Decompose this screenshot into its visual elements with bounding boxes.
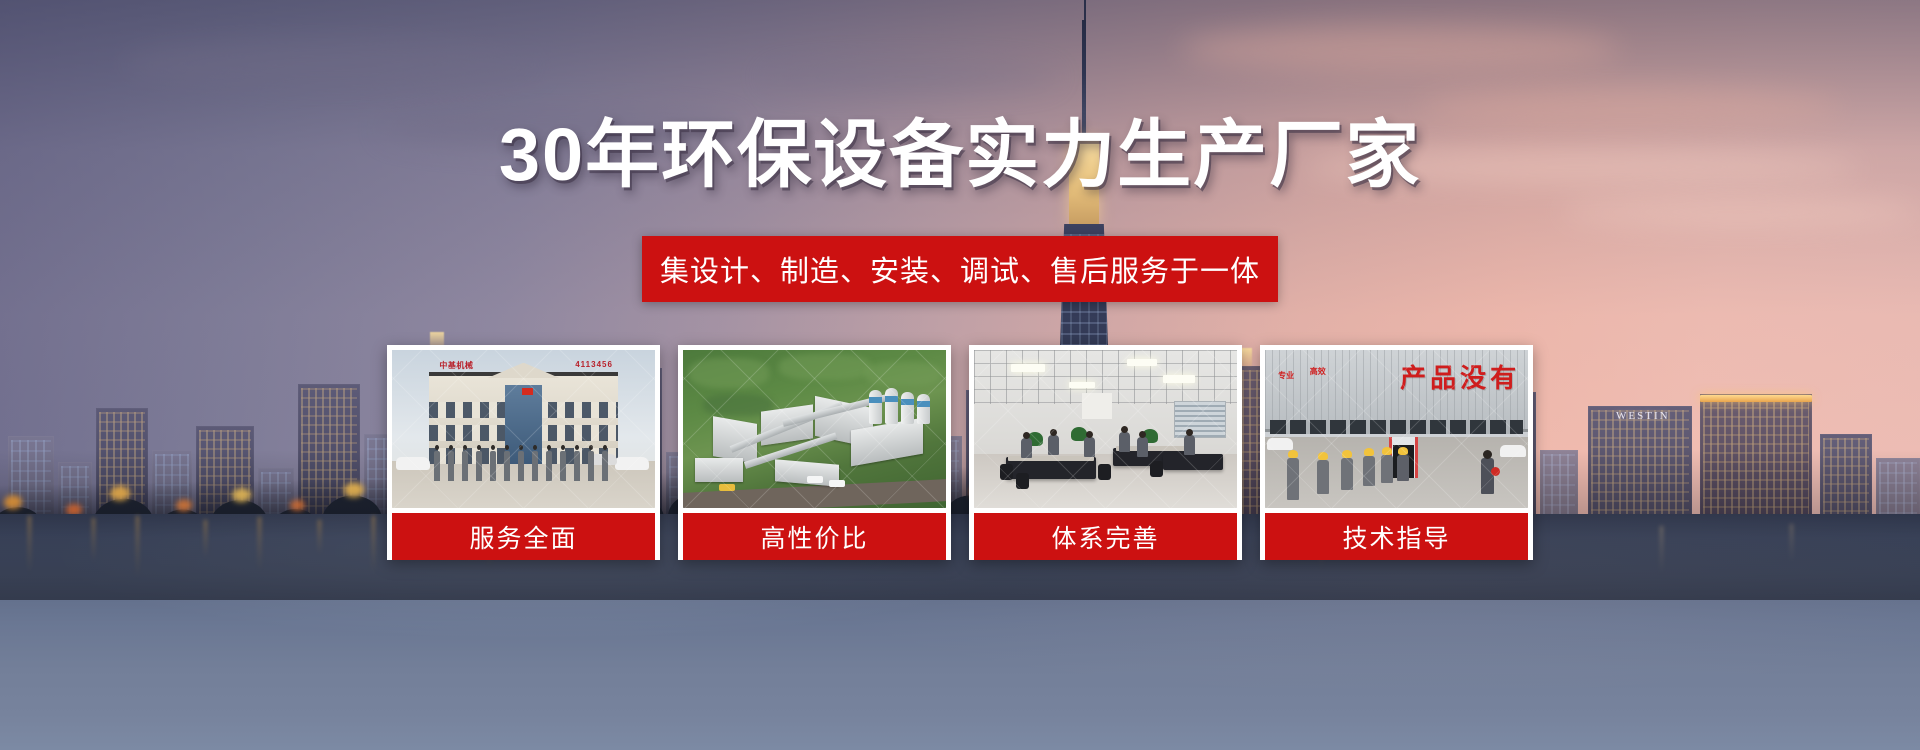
- card-caption-value: 高性价比: [683, 513, 946, 560]
- subtitle-text: 集设计、制造、安装、调试、售后服务于一体: [660, 248, 1260, 290]
- feature-cards-row: 中基机械 4113456 服务全面: [387, 345, 1533, 560]
- card-photo-office: [974, 350, 1237, 508]
- westin-sign-label: WESTIN: [1616, 410, 1670, 422]
- card-photo-factory-workers: 产品没有 专业 高效: [1265, 350, 1528, 508]
- feature-card-system[interactable]: 体系完善: [969, 345, 1242, 560]
- subtitle-banner: 集设计、制造、安装、调试、售后服务于一体: [642, 236, 1278, 302]
- feature-card-guidance[interactable]: 产品没有 专业 高效 技术指导: [1260, 345, 1533, 560]
- card-caption-service: 服务全面: [392, 513, 655, 560]
- photo-phone-number: 4113456: [575, 360, 613, 369]
- hero-banner: WESTIN: [0, 0, 1920, 750]
- card-caption-guidance: 技术指导: [1265, 513, 1528, 560]
- page-title: 30年环保设备实力生产厂家: [0, 118, 1920, 192]
- photo-slogan-1: 专业: [1278, 371, 1294, 380]
- card-caption-system: 体系完善: [974, 513, 1237, 560]
- photo-slogan-2: 高效: [1310, 367, 1326, 376]
- card-photo-headquarters: 中基机械 4113456: [392, 350, 655, 508]
- feature-card-value[interactable]: 高性价比: [678, 345, 951, 560]
- feature-card-service[interactable]: 中基机械 4113456 服务全面: [387, 345, 660, 560]
- cloud: [120, 40, 540, 90]
- rooftop-neon-sign: [1700, 395, 1812, 402]
- photo-factory-sign: 产品没有: [1400, 358, 1520, 395]
- cloud: [1180, 26, 1620, 72]
- cloud: [760, 62, 1060, 92]
- photo-company-sign: 中基机械: [439, 360, 473, 371]
- card-photo-plant-aerial: [683, 350, 946, 508]
